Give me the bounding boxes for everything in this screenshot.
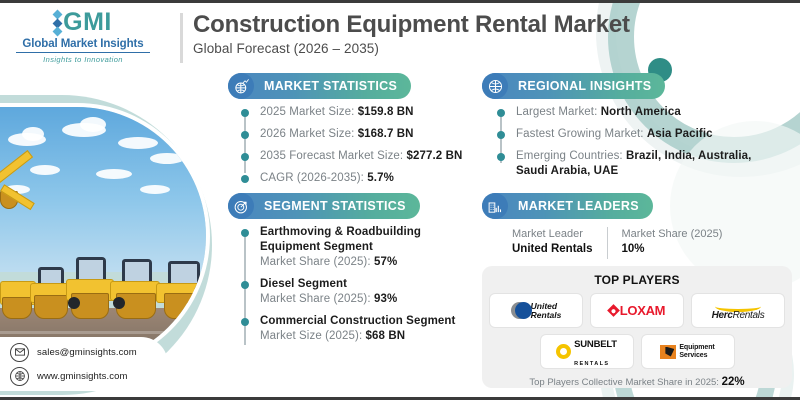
logo-tagline: Insights to Innovation bbox=[8, 55, 158, 64]
photo-cloud bbox=[22, 127, 44, 141]
bullet-dot bbox=[241, 318, 249, 326]
construction-equipment-photo bbox=[0, 107, 206, 365]
player-name-line2: Rentals bbox=[531, 310, 562, 320]
player-name-line1: Herc bbox=[712, 310, 733, 321]
item-label: Market Share (2025): bbox=[260, 293, 371, 305]
logo-wordmark: GMI bbox=[8, 9, 158, 37]
section-title: REGIONAL INSIGHTS bbox=[508, 79, 665, 93]
list-item: Commercial Construction Segment Market S… bbox=[240, 314, 470, 344]
item-value: 57% bbox=[374, 256, 397, 268]
section-title: SEGMENT STATISTICS bbox=[254, 199, 420, 213]
top-players-row: SUNBELT RENTALS Equipment Services bbox=[482, 334, 792, 369]
item-label: 2026 Market Size: bbox=[260, 128, 354, 140]
top-players-footer: Top Players Collective Market Share in 2… bbox=[482, 376, 792, 388]
item-label: 2035 Forecast Market Size: bbox=[260, 150, 403, 162]
bullet-dot bbox=[241, 131, 249, 139]
photo-machine bbox=[66, 251, 112, 319]
item-value: North America bbox=[601, 106, 681, 118]
globe-icon bbox=[482, 73, 508, 99]
item-value: 93% bbox=[374, 293, 397, 305]
list-item: 2025 Market Size: $159.8 BN bbox=[240, 105, 470, 120]
section-title: MARKET STATISTICS bbox=[254, 79, 411, 93]
item-value: Asia Pacific bbox=[647, 128, 713, 140]
market-share-label: Market Share (2025) bbox=[622, 227, 723, 242]
item-value: $168.7 BN bbox=[358, 128, 414, 140]
globe-icon bbox=[10, 367, 29, 386]
player-logo-united-rentals[interactable]: United Rentals bbox=[489, 293, 583, 328]
photo-cloud bbox=[80, 117, 106, 132]
market-share-column: Market Share (2025) 10% bbox=[608, 227, 737, 257]
photo-machine bbox=[30, 261, 70, 319]
target-arrow-icon bbox=[228, 193, 254, 219]
item-value: $277.2 BN bbox=[407, 150, 463, 162]
page-subtitle: Global Forecast (2026 – 2035) bbox=[193, 41, 630, 56]
market-leader-value: United Rentals bbox=[512, 242, 593, 257]
bar-chart-building-icon bbox=[482, 193, 508, 219]
player-name-line1: SUNBELT bbox=[574, 339, 617, 350]
item-value: 5.7% bbox=[367, 172, 394, 184]
united-rentals-mark-icon bbox=[511, 302, 528, 319]
item-heading: Diesel Segment bbox=[260, 277, 470, 292]
market-leader-label: Market Leader bbox=[512, 227, 593, 242]
segment-statistics-list: Earthmoving & Roadbuilding Equipment Seg… bbox=[240, 225, 470, 351]
bullet-dot bbox=[241, 281, 249, 289]
list-item: Diesel Segment Market Share (2025): 93% bbox=[240, 277, 470, 307]
list-item: Emerging Countries: Brazil, India, Austr… bbox=[496, 149, 786, 179]
list-item: Earthmoving & Roadbuilding Equipment Seg… bbox=[240, 225, 470, 270]
player-name: LOXAM bbox=[620, 303, 665, 318]
he-equipment-mark-icon bbox=[660, 345, 676, 359]
item-label: CAGR (2026-2035): bbox=[260, 172, 364, 184]
contact-email: sales@gminsights.com bbox=[37, 347, 137, 358]
loxam-mark-icon bbox=[607, 304, 620, 317]
player-name-line2: Services bbox=[679, 352, 707, 359]
collective-share-label: Top Players Collective Market Share in 2… bbox=[529, 377, 719, 388]
list-item: 2035 Forecast Market Size: $277.2 BN bbox=[240, 149, 470, 164]
section-header-segment-statistics: SEGMENT STATISTICS bbox=[228, 193, 420, 219]
item-label: Market Size (2025): bbox=[260, 330, 362, 342]
item-heading: Commercial Construction Segment bbox=[260, 314, 470, 329]
player-logo-he-equipment-services[interactable]: Equipment Services bbox=[641, 334, 735, 369]
player-logo-herc-rentals[interactable]: HercRentals bbox=[691, 293, 785, 328]
bullet-dot bbox=[241, 109, 249, 117]
item-value: $68 BN bbox=[366, 330, 406, 342]
regional-insights-list: Largest Market: North America Fastest Gr… bbox=[496, 105, 786, 186]
photo-cloud bbox=[150, 153, 184, 164]
player-logo-sunbelt-rentals[interactable]: SUNBELT RENTALS bbox=[540, 334, 634, 369]
logo-divider bbox=[16, 52, 150, 53]
list-item: Fastest Growing Market: Asia Pacific bbox=[496, 127, 786, 142]
section-header-regional-insights: REGIONAL INSIGHTS bbox=[482, 73, 665, 99]
item-heading: Earthmoving & Roadbuilding Equipment Seg… bbox=[260, 225, 470, 255]
player-name-line2: Rentals bbox=[733, 310, 765, 321]
logo-subtitle: Global Market Insights bbox=[8, 38, 158, 50]
logo-text: GMI bbox=[63, 8, 112, 36]
item-label: Market Share (2025): bbox=[260, 256, 371, 268]
title-block: Construction Equipment Rental Market Glo… bbox=[193, 10, 630, 56]
item-label: 2025 Market Size: bbox=[260, 106, 354, 118]
decor-arc-top-right-thin bbox=[674, 0, 800, 99]
bullet-dot bbox=[241, 175, 249, 183]
list-item: 2026 Market Size: $168.7 BN bbox=[240, 127, 470, 142]
page-title: Construction Equipment Rental Market bbox=[193, 10, 630, 40]
collective-share-value: 22% bbox=[722, 376, 745, 388]
contact-website: www.gminsights.com bbox=[37, 371, 128, 382]
logo-diamond-icon bbox=[54, 10, 61, 37]
market-leader-column: Market Leader United Rentals bbox=[512, 227, 607, 257]
bullet-dot bbox=[497, 131, 505, 139]
player-logo-loxam[interactable]: LOXAM bbox=[590, 293, 684, 328]
globe-chart-icon bbox=[228, 73, 254, 99]
market-statistics-list: 2025 Market Size: $159.8 BN 2026 Market … bbox=[240, 105, 470, 193]
infographic-canvas: GMI Global Market Insights Insights to I… bbox=[0, 0, 800, 400]
list-item: Largest Market: North America bbox=[496, 105, 786, 120]
bullet-dot bbox=[497, 109, 505, 117]
list-item: CAGR (2026-2035): 5.7% bbox=[240, 171, 470, 186]
photo-machine-row bbox=[0, 174, 206, 318]
player-name-line2: RENTALS bbox=[574, 361, 609, 367]
photo-cloud bbox=[118, 137, 158, 149]
top-players-panel: TOP PLAYERS United Rentals LOXAM bbox=[482, 266, 792, 388]
top-players-row: United Rentals LOXAM HercRentals bbox=[482, 293, 792, 328]
item-label: Largest Market: bbox=[516, 106, 597, 118]
sunbelt-sun-icon bbox=[556, 344, 571, 359]
title-divider bbox=[180, 13, 183, 63]
section-title: MARKET LEADERS bbox=[508, 199, 653, 213]
item-label: Fastest Growing Market: bbox=[516, 128, 644, 140]
bullet-dot bbox=[241, 229, 249, 237]
contact-email-row[interactable]: sales@gminsights.com bbox=[10, 343, 168, 362]
photo-machine bbox=[0, 275, 34, 319]
bullet-dot bbox=[497, 153, 505, 161]
photo-machine bbox=[110, 253, 158, 319]
player-name-line1: Equipment bbox=[679, 344, 714, 351]
gmi-logo: GMI Global Market Insights Insights to I… bbox=[8, 9, 158, 75]
section-header-market-statistics: MARKET STATISTICS bbox=[228, 73, 411, 99]
contact-website-row[interactable]: www.gminsights.com bbox=[10, 367, 168, 386]
bullet-dot bbox=[241, 153, 249, 161]
market-leaders-stats: Market Leader United Rentals Market Shar… bbox=[512, 227, 736, 259]
item-label: Emerging Countries: bbox=[516, 150, 623, 162]
market-share-value: 10% bbox=[622, 242, 723, 257]
contact-block: sales@gminsights.com www.gminsights.com bbox=[0, 337, 168, 391]
item-value: $159.8 BN bbox=[358, 106, 414, 118]
envelope-icon bbox=[10, 343, 29, 362]
section-header-market-leaders: MARKET LEADERS bbox=[482, 193, 653, 219]
photo-machine bbox=[156, 255, 206, 319]
top-players-title: TOP PLAYERS bbox=[482, 266, 792, 287]
